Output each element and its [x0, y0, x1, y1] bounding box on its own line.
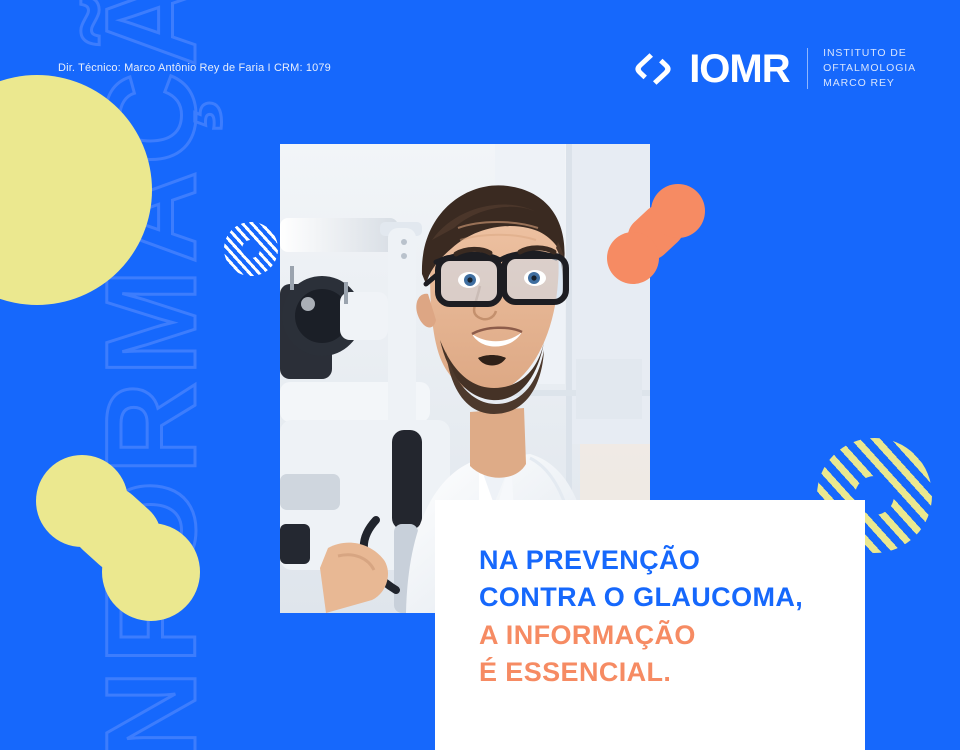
headline-card: NA PREVENÇÃO CONTRA O GLAUCOMA, A INFORM… [435, 500, 865, 750]
headline-line-3: A INFORMAÇÃO [479, 617, 803, 654]
headline-line-1: NA PREVENÇÃO [479, 542, 803, 579]
logo-subtitle-line-2: OFTALMOLOGIA [823, 62, 916, 74]
ring-hole [242, 240, 260, 258]
orange-peanut-blob [607, 186, 705, 281]
technical-director-text: Dir. Técnico: Marco Antônio Rey de Faria… [58, 62, 331, 74]
poster-canvas: INFORMAÇÃO Dir. Técnico: Marco Antônio R… [0, 0, 960, 750]
iomr-eye-mark-icon [630, 50, 676, 88]
logo-subtitle-line-1: INSTITUTO DE [823, 47, 907, 59]
yellow-peanut-blob [16, 455, 206, 620]
logo-wordmark: IOMR [689, 49, 789, 89]
headline-line-2: CONTRA O GLAUCOMA, [479, 579, 803, 616]
brand-logo: IOMR INSTITUTO DE OFTALMOLOGIA MARCO REY [630, 46, 916, 92]
peanut-lobe-top [36, 455, 128, 547]
logo-divider [807, 48, 809, 89]
peanut-lobe-right [651, 184, 705, 238]
logo-subtitle-line-3: MARCO REY [823, 77, 895, 89]
logo-subtitle: INSTITUTO DE OFTALMOLOGIA MARCO REY [823, 46, 916, 92]
peanut-lobe-left [607, 232, 659, 284]
headline: NA PREVENÇÃO CONTRA O GLAUCOMA, A INFORM… [479, 542, 803, 691]
peanut-lobe-bottom [102, 523, 200, 621]
white-striped-ring-icon [224, 222, 278, 276]
headline-line-4: É ESSENCIAL. [479, 654, 803, 691]
